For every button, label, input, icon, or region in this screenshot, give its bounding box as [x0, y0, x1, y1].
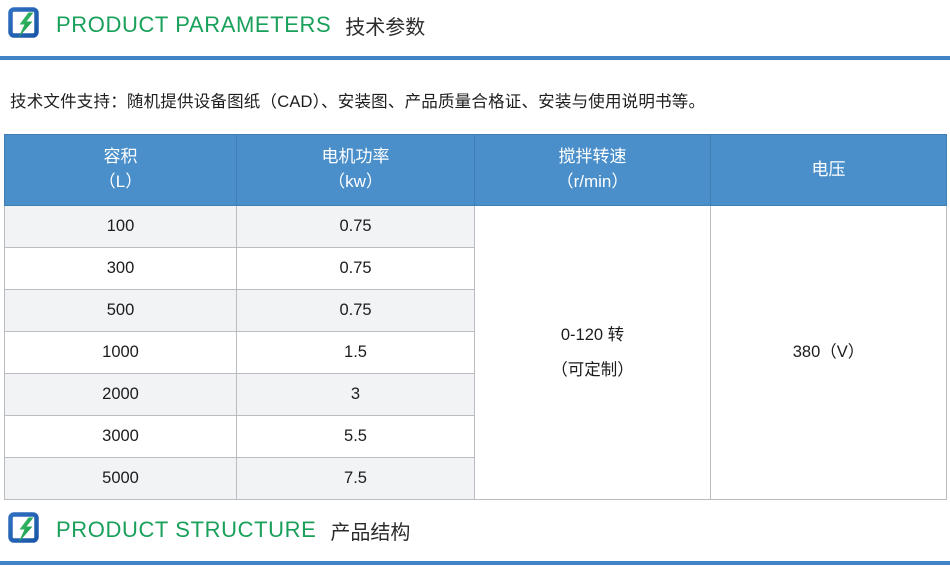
parameters-table-wrapper: 容积 （L） 电机功率 （kw） 搅拌转速 （r/min） 电压 [0, 112, 950, 500]
parameters-table: 容积 （L） 电机功率 （kw） 搅拌转速 （r/min） 电压 [4, 134, 947, 500]
cell-motor-power: 5.5 [237, 416, 475, 458]
column-header-voltage-name: 电压 [812, 160, 846, 179]
table-header-row: 容积 （L） 电机功率 （kw） 搅拌转速 （r/min） 电压 [5, 135, 947, 206]
cell-motor-power: 1.5 [237, 332, 475, 374]
cell-motor-power: 3 [237, 374, 475, 416]
column-header-volume-name: 容积 [104, 147, 138, 166]
cell-volume: 5000 [5, 458, 237, 500]
cell-stirring-speed-merged: 0-120 转 （可定制） [475, 206, 711, 500]
cell-volume: 500 [5, 290, 237, 332]
column-header-volume: 容积 （L） [5, 135, 237, 206]
cell-motor-power: 7.5 [237, 458, 475, 500]
cell-motor-power: 0.75 [237, 248, 475, 290]
structure-divider [0, 561, 950, 565]
cell-voltage-merged: 380（V） [711, 206, 947, 500]
structure-title-en: PRODUCT STRUCTURE [56, 517, 316, 543]
stirring-speed-note: （可定制） [476, 353, 709, 388]
brand-square-bolt-icon [8, 7, 44, 43]
column-header-stirring-speed-name: 搅拌转速 [559, 147, 627, 166]
parameters-title-cn: 技术参数 [345, 11, 425, 40]
stirring-speed-value: 0-120 转 [561, 326, 624, 344]
cell-volume: 3000 [5, 416, 237, 458]
structure-title-cn: 产品结构 [330, 516, 410, 545]
brand-square-bolt-icon [8, 512, 44, 548]
table-row: 100 0.75 0-120 转 （可定制） 380（V） [5, 206, 947, 248]
cell-motor-power: 0.75 [237, 290, 475, 332]
product-parameters-section: PRODUCT PARAMETERS 技术参数 技术文件支持：随机提供设备图纸（… [0, 0, 950, 500]
column-header-motor-power-unit: （kw） [238, 170, 473, 195]
column-header-motor-power-name: 电机功率 [322, 147, 390, 166]
cell-motor-power: 0.75 [237, 206, 475, 248]
technical-documents-note: 技术文件支持：随机提供设备图纸（CAD）、安装图、产品质量合格证、安装与使用说明… [0, 60, 950, 112]
product-structure-section: PRODUCT STRUCTURE 产品结构 [0, 505, 950, 565]
column-header-stirring-speed: 搅拌转速 （r/min） [475, 135, 711, 206]
cell-volume: 300 [5, 248, 237, 290]
cell-volume: 1000 [5, 332, 237, 374]
column-header-motor-power: 电机功率 （kw） [237, 135, 475, 206]
column-header-stirring-speed-unit: （r/min） [476, 170, 709, 195]
parameters-title-en: PRODUCT PARAMETERS [56, 12, 331, 38]
cell-volume: 100 [5, 206, 237, 248]
parameters-heading: PRODUCT PARAMETERS 技术参数 [0, 0, 950, 50]
column-header-voltage: 电压 [711, 135, 947, 206]
structure-heading: PRODUCT STRUCTURE 产品结构 [0, 505, 950, 555]
column-header-volume-unit: （L） [6, 170, 235, 195]
cell-volume: 2000 [5, 374, 237, 416]
